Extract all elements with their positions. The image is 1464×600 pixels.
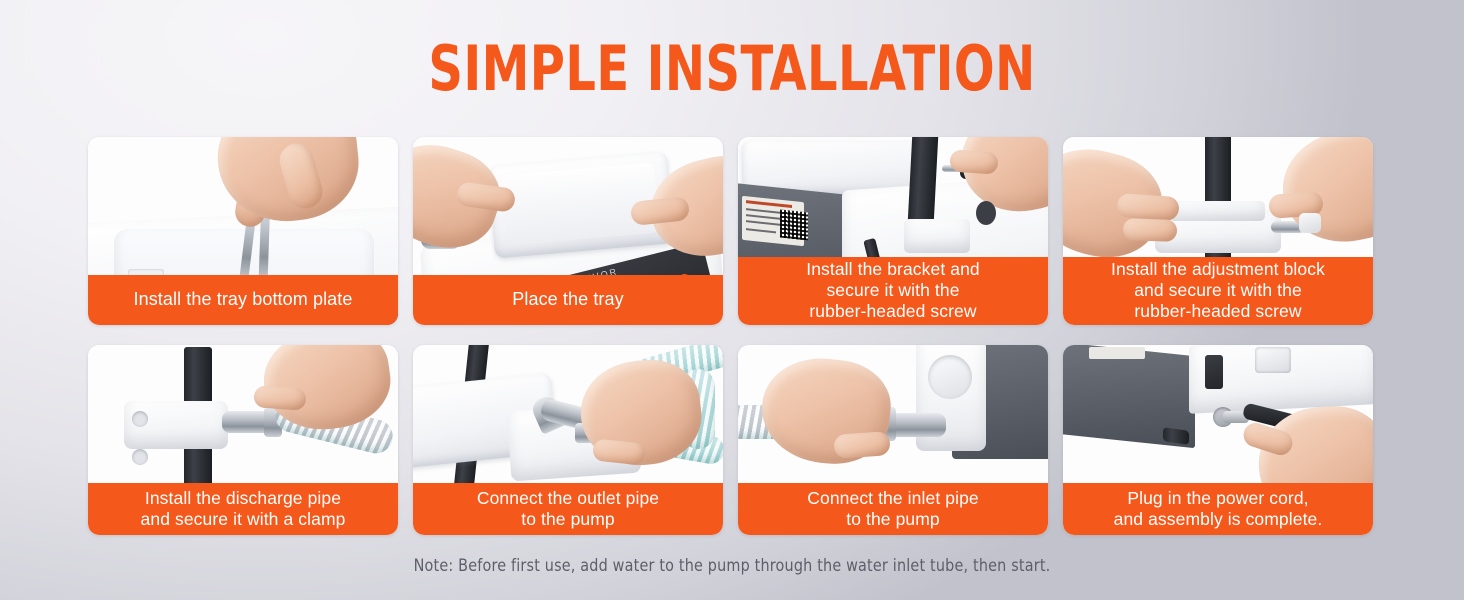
step-panel-4[interactable]: Install the adjustment block and secure …: [1063, 137, 1373, 325]
step-panel-5[interactable]: Install the discharge pipe and secure it…: [88, 345, 398, 535]
step-caption-4: Install the adjustment block and secure …: [1063, 257, 1373, 325]
caption-line: Install the bracket and: [744, 259, 1042, 280]
step-panel-3[interactable]: Install the bracket and secure it with t…: [738, 137, 1048, 325]
step-panel-6[interactable]: Connect the outlet pipe to the pump: [413, 345, 723, 535]
footer-note: Note: Before first use, add water to the…: [44, 556, 1420, 576]
step-caption-7: Connect the inlet pipe to the pump: [738, 483, 1048, 535]
step-panel-1[interactable]: Install the tray bottom plate: [88, 137, 398, 325]
caption-line: rubber-headed screw: [744, 301, 1042, 322]
infographic-page: SIMPLE INSTALLATION: [0, 0, 1464, 600]
page-title: SIMPLE INSTALLATION: [102, 36, 1361, 102]
caption-line: Place the tray: [419, 289, 717, 310]
caption-line: Install the discharge pipe: [94, 488, 392, 509]
caption-line: and secure it with a clamp: [94, 509, 392, 530]
caption-line: rubber-headed screw: [1069, 301, 1367, 322]
caption-line: Install the adjustment block: [1069, 259, 1367, 280]
steps-grid: Install the tray bottom plate VEVOR: [88, 137, 1378, 535]
step-caption-2: Place the tray: [413, 275, 723, 325]
caption-line: Plug in the power cord,: [1069, 488, 1367, 509]
step-caption-8: Plug in the power cord, and assembly is …: [1063, 483, 1373, 535]
step-panel-8[interactable]: Plug in the power cord, and assembly is …: [1063, 345, 1373, 535]
caption-line: and assembly is complete.: [1069, 509, 1367, 530]
step-caption-5: Install the discharge pipe and secure it…: [88, 483, 398, 535]
caption-line: Connect the inlet pipe: [744, 488, 1042, 509]
caption-line: secure it with the: [744, 280, 1042, 301]
caption-line: Connect the outlet pipe: [419, 488, 717, 509]
step-panel-2[interactable]: VEVOR Place the tray: [413, 137, 723, 325]
step-caption-6: Connect the outlet pipe to the pump: [413, 483, 723, 535]
caption-line: and secure it with the: [1069, 280, 1367, 301]
caption-line: Install the tray bottom plate: [94, 289, 392, 310]
caption-line: to the pump: [419, 509, 717, 530]
step-panel-7[interactable]: Connect the inlet pipe to the pump: [738, 345, 1048, 535]
caption-line: to the pump: [744, 509, 1042, 530]
step-caption-1: Install the tray bottom plate: [88, 275, 398, 325]
step-caption-3: Install the bracket and secure it with t…: [738, 257, 1048, 325]
